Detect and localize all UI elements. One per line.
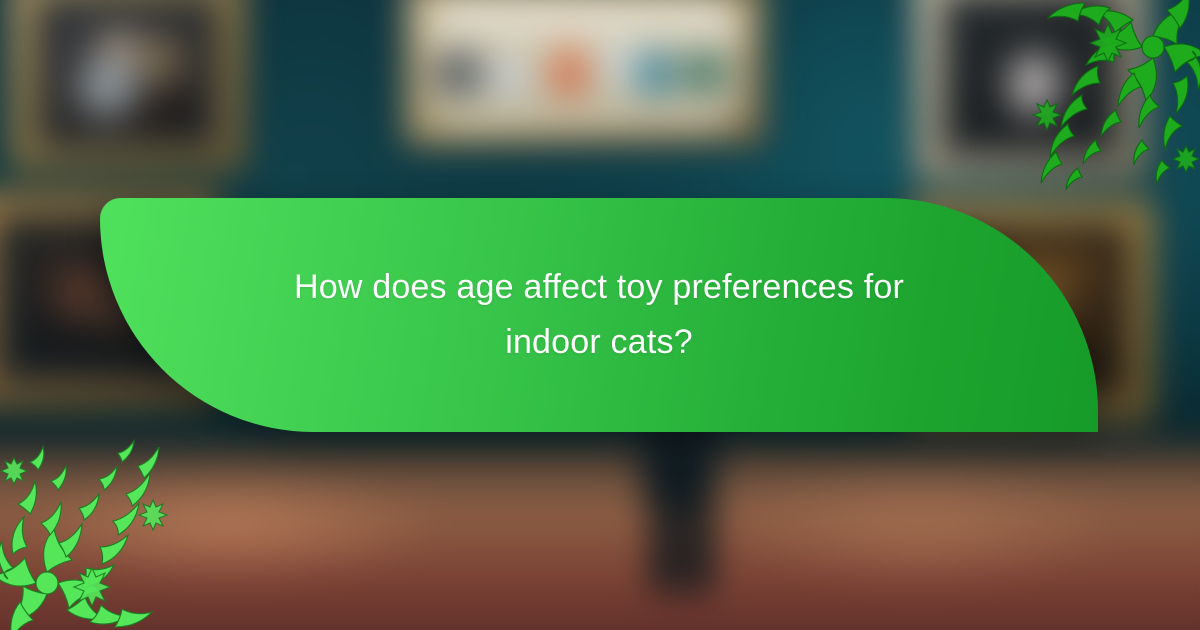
floor-highlight-left	[20, 465, 440, 585]
question-banner: How does age affect toy preferences for …	[100, 198, 1098, 432]
painting-artwork	[427, 8, 744, 117]
painting-upper-right	[915, 0, 1147, 180]
painting-artwork	[57, 14, 198, 131]
visitor-leg-right	[686, 490, 712, 594]
painting-center-wide	[405, 0, 765, 145]
question-text: How does age affect toy preferences for …	[209, 260, 989, 371]
painting-artwork	[961, 10, 1100, 137]
painting-upper-left	[10, 0, 245, 170]
floor-highlight-right	[720, 460, 1120, 590]
visitor-leg-left	[652, 490, 678, 594]
promo-card: How does age affect toy preferences for …	[0, 0, 1200, 630]
